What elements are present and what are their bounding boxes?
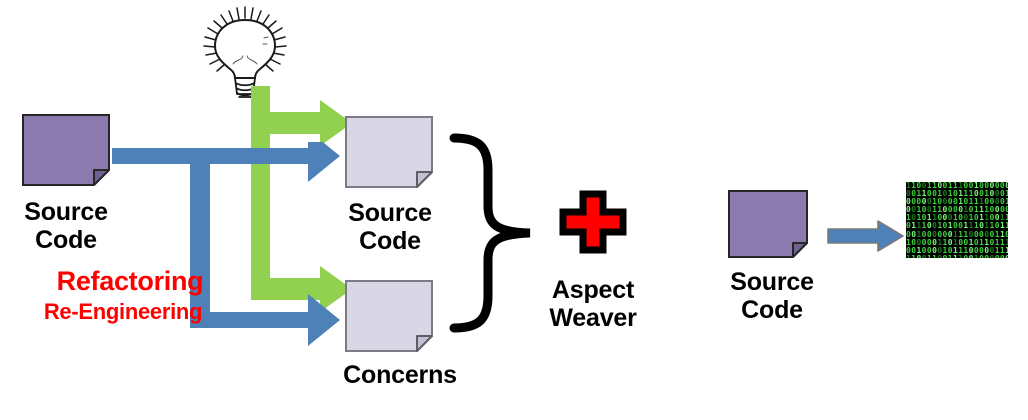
aspect-weaver-plus-icon (559, 190, 627, 254)
re-engineering-label: Re-Engineering (12, 300, 234, 323)
grouping-brace (448, 132, 540, 334)
input-source-code-document (22, 114, 110, 186)
refactoring-label: Refactoring (30, 267, 230, 295)
diagram-canvas: Source Code Refactoring Re-Engineering S… (0, 0, 1028, 420)
aspect-weaver-label: Aspect Weaver (533, 276, 653, 332)
output-source-code-document (345, 116, 433, 188)
input-source-code-label: Source Code (6, 198, 126, 254)
blue-fork-arrow (112, 142, 340, 360)
woven-source-code-document (728, 190, 808, 258)
concerns-document (345, 280, 433, 352)
compile-arrow (826, 218, 906, 254)
compiled-binary-matrix: 11001100111001000000 0011001010111001000… (906, 182, 1008, 258)
concerns-label: Concerns (320, 361, 480, 389)
lightbulb-icon (193, 4, 297, 98)
output-source-code-label: Source Code (330, 199, 450, 255)
woven-source-code-label: Source Code (712, 268, 832, 324)
